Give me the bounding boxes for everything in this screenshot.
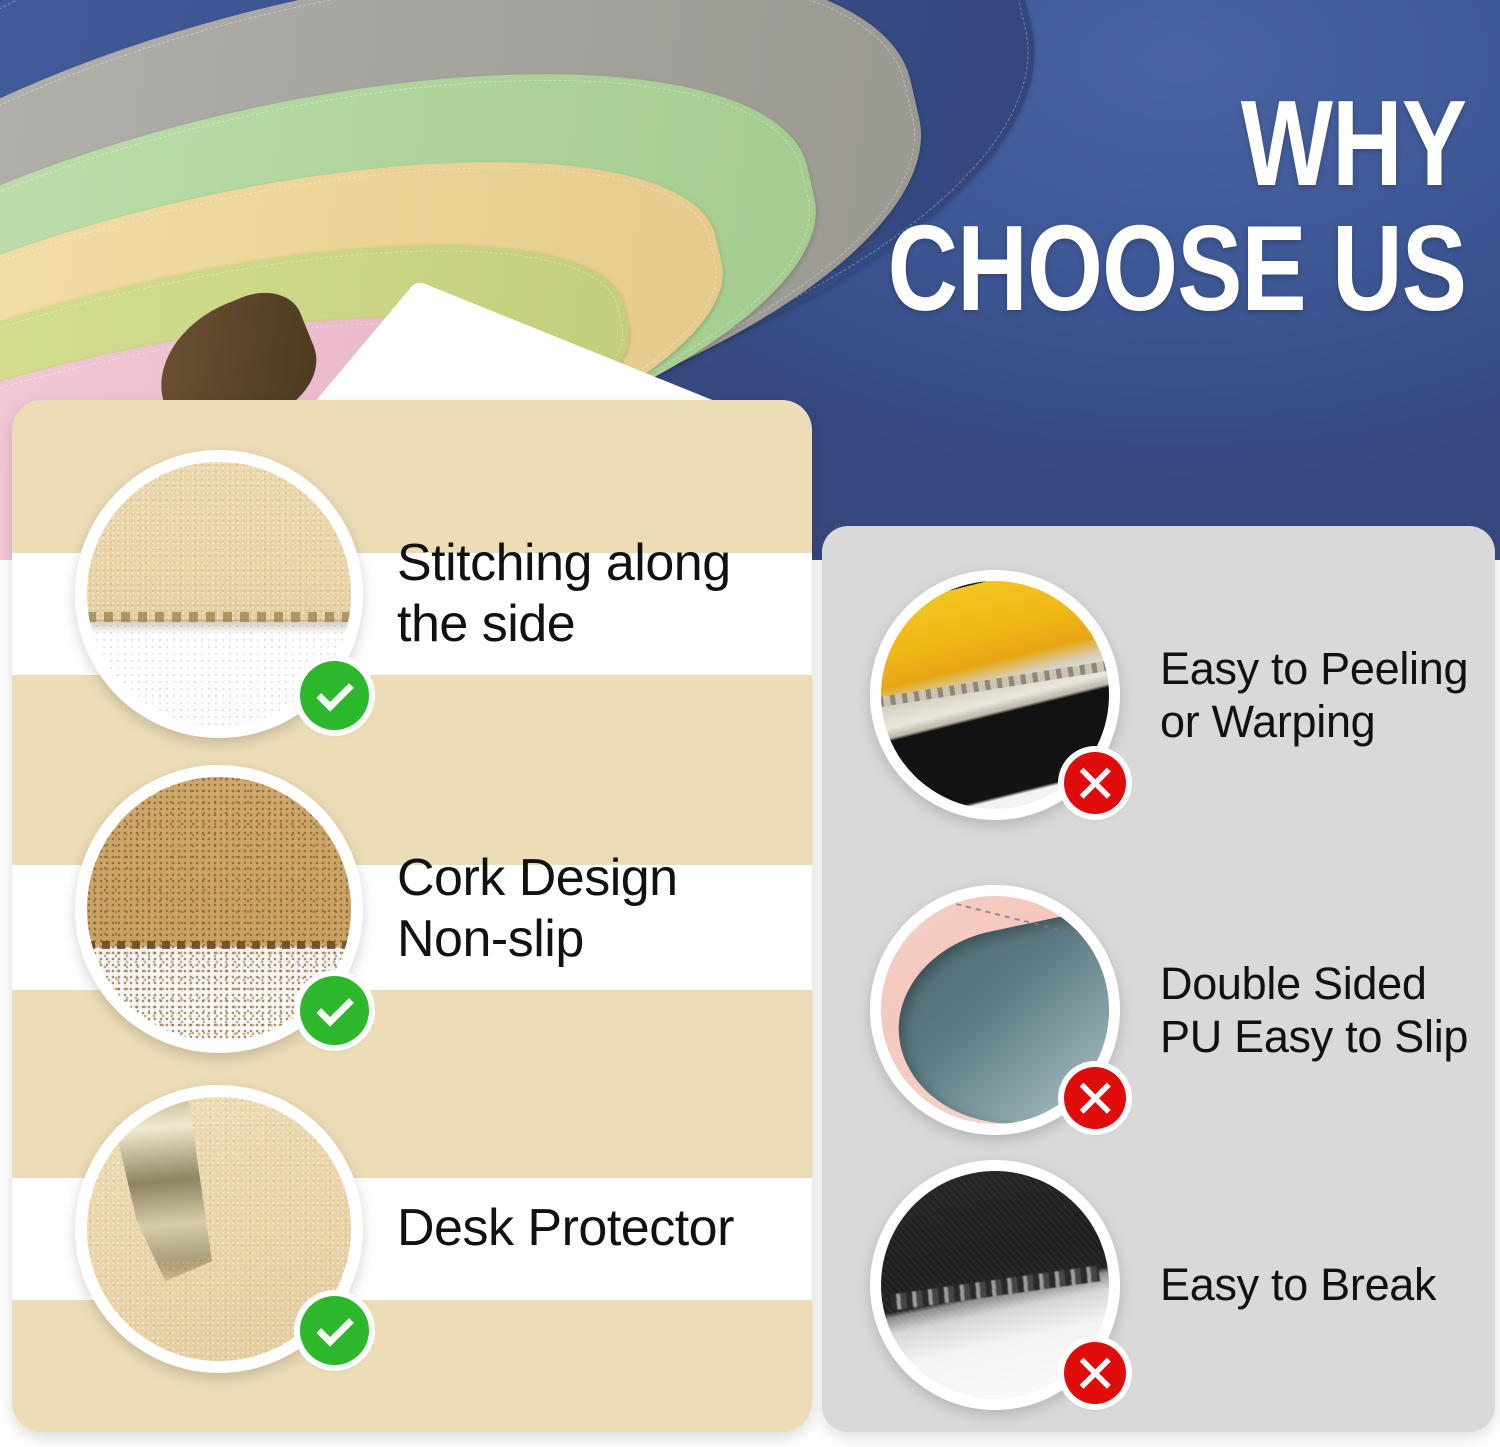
- con-feature-row: Double Sided PU Easy to Slip: [870, 885, 1468, 1135]
- pro-feature-row: Desk Protector: [75, 1085, 734, 1373]
- cork-edge-stitching: [87, 941, 351, 949]
- pro-label: Stitching along the side: [397, 533, 731, 656]
- title-line-2: CHOOSE US: [888, 215, 1467, 322]
- pro-feature-row: Cork Design Non-slip: [75, 765, 678, 1053]
- check-icon: [300, 976, 369, 1045]
- check-icon: [300, 661, 369, 730]
- con-label: Double Sided PU Easy to Slip: [1160, 957, 1468, 1063]
- pro-thumbnail: [75, 450, 363, 738]
- con-label: Easy to Break: [1160, 1258, 1436, 1311]
- con-feature-row: Easy to Peeling or Warping: [870, 570, 1468, 820]
- leather-edge-shadow: [87, 620, 351, 634]
- con-thumbnail: [870, 885, 1120, 1135]
- con-feature-row: Easy to Break: [870, 1160, 1436, 1410]
- pro-feature-row: Stitching along the side: [75, 450, 731, 738]
- con-thumbnail: [870, 570, 1120, 820]
- cross-icon: [1064, 1342, 1126, 1404]
- pro-thumbnail: [75, 765, 363, 1053]
- pro-thumbnail: [75, 1085, 363, 1373]
- con-label: Easy to Peeling or Warping: [1160, 642, 1468, 748]
- con-thumbnail: [870, 1160, 1120, 1410]
- pro-label: Cork Design Non-slip: [397, 848, 678, 971]
- cross-icon: [1064, 752, 1126, 814]
- title-line-1: WHY: [888, 90, 1467, 197]
- cross-icon: [1064, 1067, 1126, 1129]
- check-icon: [300, 1296, 369, 1365]
- stitching-detail: [87, 612, 351, 622]
- pro-label: Desk Protector: [397, 1198, 734, 1259]
- page-title: WHY CHOOSE US: [743, 90, 1466, 323]
